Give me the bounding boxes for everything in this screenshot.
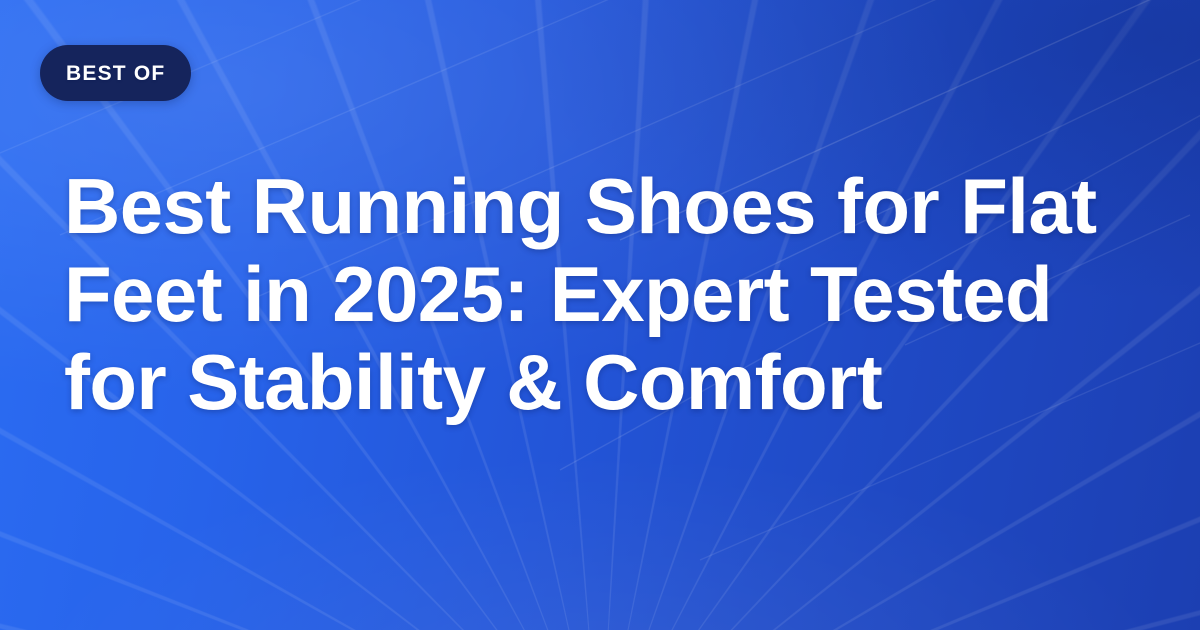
best-of-badge: BEST OF: [40, 45, 191, 101]
og-share-card: BEST OF Best Running Shoes for Flat Feet…: [0, 0, 1200, 630]
headline-line-3: for Stability & Comfort: [64, 338, 1139, 426]
headline-line-1: Best Running Shoes for Flat: [64, 162, 1139, 250]
badge-label: BEST OF: [66, 63, 165, 84]
headline-line-2: Feet in 2025: Expert Tested: [64, 250, 1139, 338]
card-content: BEST OF Best Running Shoes for Flat Feet…: [0, 0, 1200, 630]
page-title: Best Running Shoes for Flat Feet in 2025…: [64, 162, 1139, 426]
